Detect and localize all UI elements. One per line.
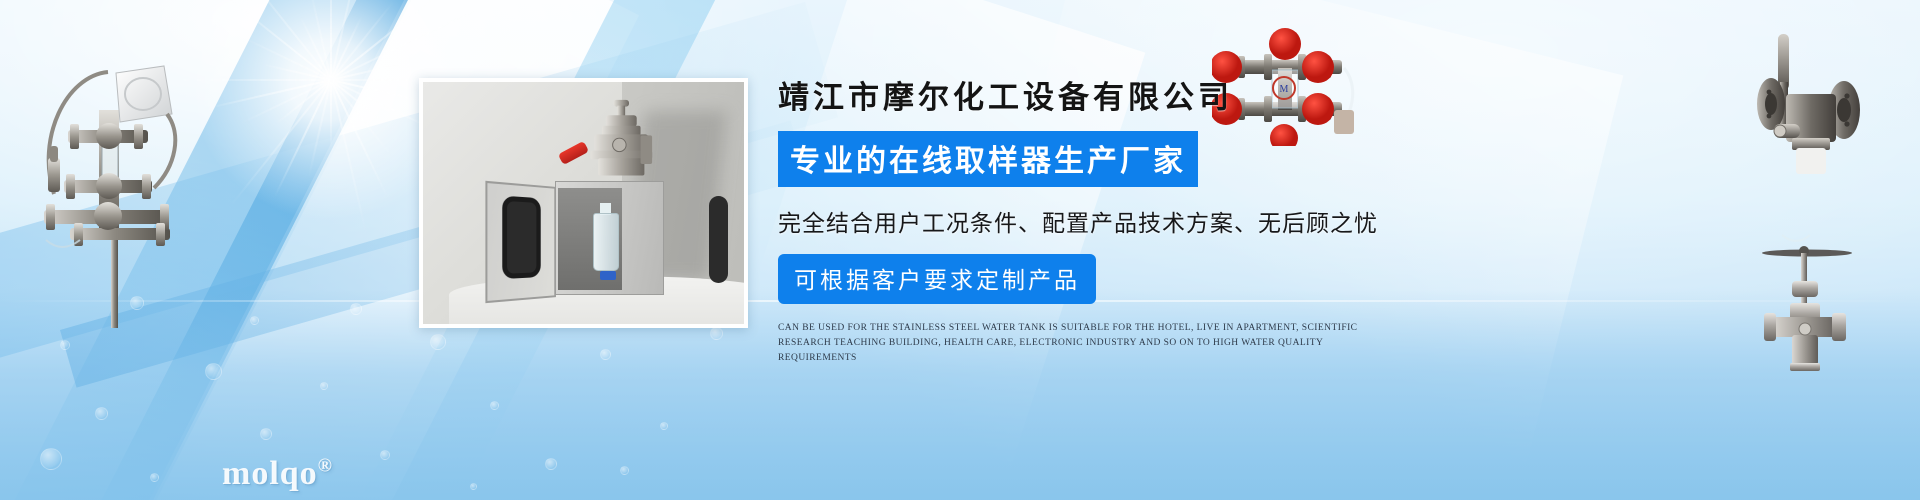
watermark-text: molqo: [222, 455, 318, 492]
custom-product-badge: 可根据客户要求定制产品: [778, 254, 1096, 304]
product-image-inline-sampling-valve: [1762, 225, 1912, 405]
product-photo-sampling-cabinet: [419, 78, 748, 328]
product-image-left-sampler: [4, 18, 204, 328]
promo-banner: M: [0, 0, 1920, 500]
english-description: CAN BE USED FOR THE STAINLESS STEEL WATE…: [778, 321, 1378, 366]
company-name: 靖江市摩尔化工设备有限公司: [778, 72, 1398, 117]
headline-main-badge: 专业的在线取样器生产厂家: [778, 131, 1198, 187]
registered-mark-icon: ®: [318, 456, 333, 477]
watermark-logo: molqo®: [222, 455, 333, 493]
banner-text-block: 靖江市摩尔化工设备有限公司 专业的在线取样器生产厂家 完全结合用户工况条件、配置…: [778, 72, 1398, 366]
headline-subtitle: 完全结合用户工况条件、配置产品技术方案、无后顾之忧: [778, 204, 1398, 238]
product-image-flanged-lever-valve: [1752, 22, 1902, 202]
